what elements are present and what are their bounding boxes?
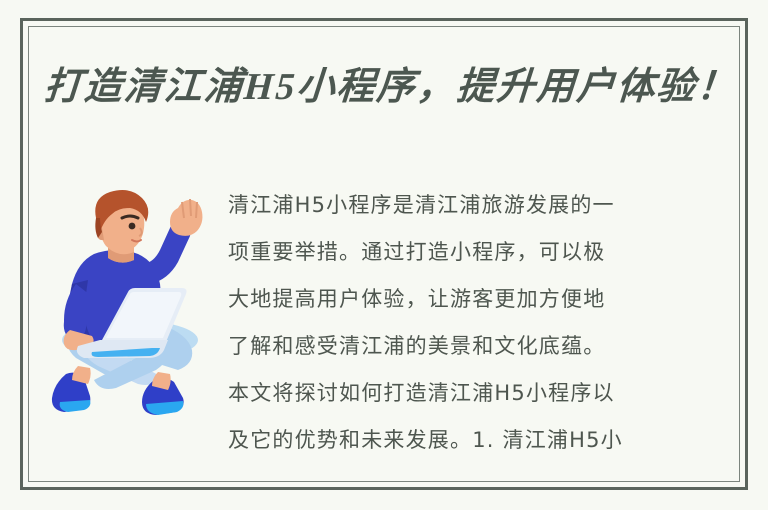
poster-canvas: 打造清江浦H5小程序，提升用户体验！ bbox=[0, 0, 768, 510]
article-line: 项重要举措。通过打造小程序，可以极 bbox=[228, 229, 740, 276]
article-line: 及它的优势和未来发展。1. 清江浦H5小 bbox=[228, 417, 740, 464]
article-line: 清江浦H5小程序是清江浦旅游发展的一 bbox=[228, 182, 740, 229]
article-line: 本文将探讨如何打造清江浦H5小程序以 bbox=[228, 370, 740, 417]
eye bbox=[129, 223, 136, 230]
page-title: 打造清江浦H5小程序，提升用户体验！ bbox=[42, 56, 736, 118]
illustration-man-with-laptop bbox=[42, 188, 222, 420]
article-line: 大地提高用户体验，让游客更加方便地 bbox=[228, 276, 740, 323]
article-line: 了解和感受清江浦的美景和文化底蕴。 bbox=[228, 323, 740, 370]
article-body: 清江浦H5小程序是清江浦旅游发展的一 项重要举措。通过打造小程序，可以极 大地提… bbox=[228, 182, 740, 464]
